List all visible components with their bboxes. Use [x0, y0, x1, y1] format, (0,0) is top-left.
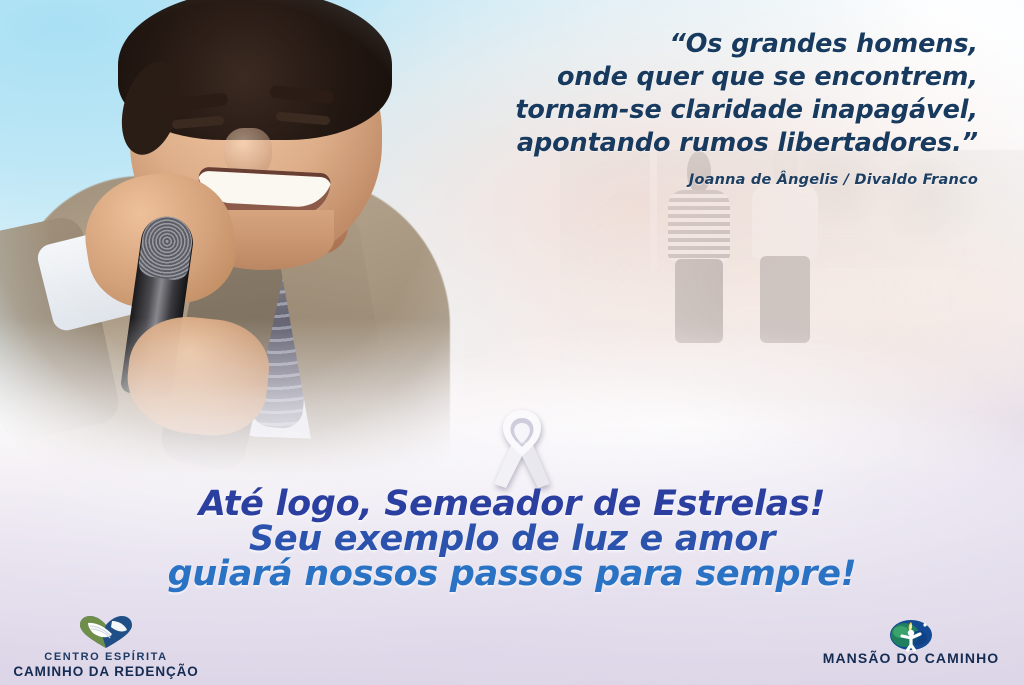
portrait-divaldo-franco [0, 0, 464, 500]
logo-right-line-2: MANSÃO DO CAMINHO [806, 650, 1016, 666]
hair [118, 0, 392, 140]
headline-line-2: Seu exemplo de luz e amor [0, 522, 1024, 557]
quote-attribution: Joanna de Ângelis / Divaldo Franco [418, 172, 978, 188]
poster-canvas: “Os grandes homens, onde quer que se enc… [0, 0, 1024, 685]
logo-centro-espirita-caminho-da-redencao[interactable]: CENTRO ESPÍRITA CAMINHO DA REDENÇÃO [8, 614, 204, 680]
logo-left-line-1: CENTRO ESPÍRITA [8, 650, 204, 664]
globe-figure-icon [806, 614, 1016, 650]
quote-line-2: onde quer que se encontrem, [418, 61, 978, 94]
white-ribbon-icon [484, 408, 560, 492]
logo-left-line-2: CAMINHO DA REDENÇÃO [8, 664, 204, 680]
quote-text: “Os grandes homens, onde quer que se enc… [418, 28, 978, 160]
headline-text: Até logo, Semeador de Estrelas! Seu exem… [0, 487, 1024, 592]
quote-line-4: apontando rumos libertadores.” [418, 127, 978, 160]
quote-line-1: “Os grandes homens, [418, 28, 978, 61]
logo-mansao-do-caminho[interactable]: MANSÃO DO CAMINHO [806, 614, 1016, 666]
heart-hands-icon [8, 614, 204, 650]
quote-line-3: tornam-se claridade inapagável, [418, 94, 978, 127]
headline-line-3: guiará nossos passos para sempre! [0, 557, 1024, 592]
headline-line-1: Até logo, Semeador de Estrelas! [0, 487, 1024, 522]
